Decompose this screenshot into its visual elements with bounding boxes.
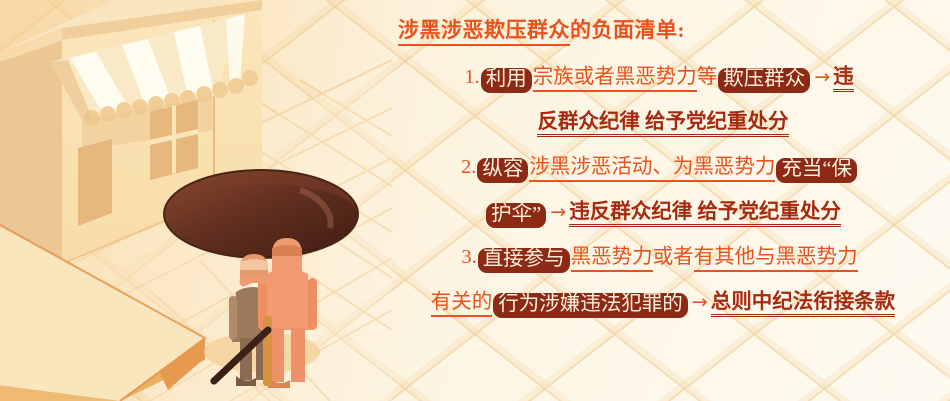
list-item: 2.纵容涉黑涉恶活动、为黑恶势力充当“保 护伞”→违反群众纪律 给予党纪重处分: [382, 145, 940, 235]
list-item: 3.直接参与黑恶势力或者有其他与黑恶势力 有关的行为涉嫌违法犯罪的→总则中纪法衔…: [382, 235, 940, 325]
result-phrase: 违: [833, 66, 854, 92]
item-number: 1.: [464, 66, 479, 88]
list-item-line: 2.纵容涉黑涉恶活动、为黑恶势力充当“保: [382, 145, 940, 190]
list-item: 1.利用宗族或者黑恶势力等欺压群众→违 反群众纪律 给予党纪重处分: [382, 55, 940, 145]
page-title: 涉黑涉恶欺压群众的负面清单:: [382, 14, 940, 46]
arrow-icon: →: [811, 66, 833, 88]
result-phrase: 反群众纪律 给予党纪重处分: [537, 111, 788, 137]
tag-pill: 直接参与: [478, 248, 570, 273]
result-phrase: 违反群众纪律 给予党纪重处分: [569, 201, 841, 227]
tag-pill: 行为涉嫌违法犯罪的: [493, 293, 688, 318]
plain-phrase: 等: [697, 66, 718, 88]
tag-pill: 欺压群众: [718, 68, 810, 93]
underlined-phrase: 涉黑涉恶活动、: [529, 156, 673, 182]
title-highlight: 涉黑涉恶欺压群众: [398, 18, 570, 46]
tag-pill: 护伞”: [486, 203, 546, 228]
item-number: 2.: [461, 156, 476, 178]
title-rest: 的负面清单:: [570, 18, 685, 42]
tag-pill: 充当“保: [776, 158, 857, 183]
underlined-phrase: 为黑恶势力: [673, 156, 776, 182]
poster-canvas: 涉黑涉恶欺压群众的负面清单: 1.利用宗族或者黑恶势力等欺压群众→违 反群众纪律…: [0, 0, 950, 401]
item-number: 3.: [461, 246, 476, 268]
underlined-phrase: 黑恶势力: [571, 246, 653, 272]
underlined-phrase: 有其他与黑恶势力: [694, 246, 858, 272]
list-item-line: 1.利用宗族或者黑恶势力等欺压群众→违: [382, 55, 940, 100]
list-item-line: 3.直接参与黑恶势力或者有其他与黑恶势力: [382, 235, 940, 280]
result-phrase: 总则中纪法衔接条款: [711, 291, 896, 317]
arrow-icon: →: [547, 201, 569, 223]
plain-phrase: 或者: [653, 246, 694, 268]
isometric-street-illustration: [0, 0, 392, 401]
tag-pill: 纵容: [477, 158, 528, 183]
arrow-icon: →: [689, 291, 711, 313]
tag-pill: 利用: [481, 68, 532, 93]
negative-list-text-block: 涉黑涉恶欺压群众的负面清单: 1.利用宗族或者黑恶势力等欺压群众→违 反群众纪律…: [382, 0, 950, 401]
list-item-line: 有关的行为涉嫌违法犯罪的→总则中纪法衔接条款: [382, 280, 940, 325]
underlined-phrase: 宗族或者黑恶势力: [533, 66, 697, 92]
shop-door: [78, 139, 112, 226]
list-item-line: 反群众纪律 给予党纪重处分: [382, 100, 940, 145]
list-item-line: 护伞”→违反群众纪律 给予党纪重处分: [382, 190, 940, 235]
underlined-phrase: 有关的: [431, 291, 493, 317]
shop-window: [150, 100, 198, 180]
